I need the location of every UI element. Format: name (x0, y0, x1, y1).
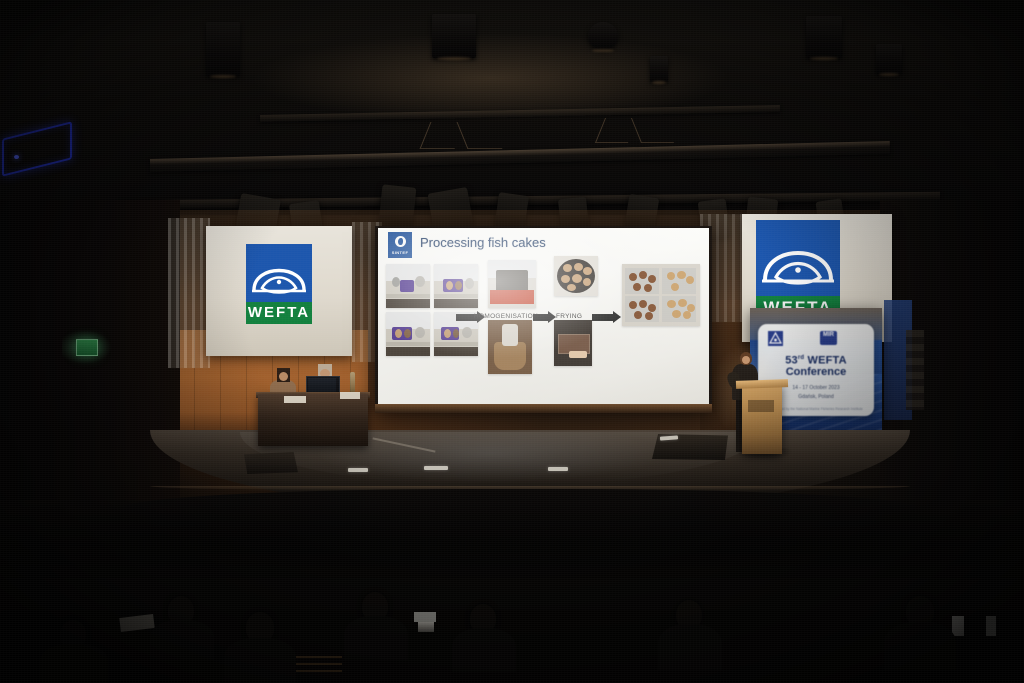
slide-photo-mixing-bowl (488, 320, 532, 374)
audience-head (60, 620, 86, 648)
lectern-top (736, 379, 788, 389)
projection-screen-frame (375, 226, 712, 410)
chair-person-right-face (320, 369, 330, 378)
audience-shoulders (40, 644, 108, 683)
process-arrow-icon (533, 314, 549, 321)
presenting-speaker-face (742, 356, 750, 364)
audience-shoulders (658, 624, 722, 670)
audience-bright-screen (952, 616, 964, 636)
screen-frame-bottom (375, 404, 712, 413)
aisle-steps (286, 656, 342, 676)
stage-spotlight (815, 198, 846, 239)
wefta-banner-left: WEFTA (206, 226, 352, 356)
audience-shoulders (224, 638, 296, 683)
audience-laptop-screen (414, 612, 436, 622)
stage-spotlight (231, 193, 281, 259)
stage-spotlight (558, 197, 590, 240)
poster-title: 53rd WEFTA (758, 352, 874, 368)
audience-head (470, 604, 496, 632)
wefta-banner-wordmark: WEFTA (756, 296, 840, 320)
audience-bright-screen (986, 616, 996, 636)
photo-vignette (0, 0, 1024, 683)
audience-head (676, 600, 702, 628)
poster-location: Gdańsk, Poland (758, 393, 874, 401)
exit-sign-icon (76, 339, 98, 356)
truss-brace-icon (420, 122, 466, 149)
audience-head (168, 596, 194, 624)
projection-screen: SINTEF Processing fish cakes (378, 228, 709, 406)
stage-edge-highlight (150, 486, 910, 491)
side-wall-right (880, 200, 1024, 500)
chair-person-right-body (310, 377, 340, 399)
process-label-homogenisation: HOMOGENISATION (474, 313, 538, 320)
audience-area (0, 540, 1024, 683)
stage-monitor-wedge-right (652, 434, 728, 460)
audience-shoulders (884, 622, 956, 670)
speaker-key-light (706, 336, 802, 466)
audience-row-front (0, 610, 1024, 683)
truss-brace-icon (631, 118, 674, 143)
chairpersons-table-top (256, 392, 370, 398)
audience-wall-glow (300, 588, 410, 646)
stage-surface-sheen (240, 432, 760, 486)
truss-brace-icon (595, 118, 638, 143)
lighting-truss-upper (260, 105, 780, 122)
wefta-logo-icon (756, 220, 840, 296)
wefta-fish-arch-logo (246, 244, 312, 302)
poster-wave-graphic (750, 374, 882, 430)
mir-logo-icon: MIR (820, 331, 837, 345)
ceiling-lamp (588, 22, 618, 50)
poster-photo-strip (750, 308, 882, 340)
stage-monitor-wedge-left (244, 452, 298, 474)
presenting-speaker-head (740, 352, 752, 365)
stage-curtain (168, 218, 210, 368)
slide-photo-oven (554, 320, 592, 366)
hall-ambient-light (0, 0, 1024, 683)
stage-spotlight (289, 200, 325, 250)
presentation-laptop (306, 376, 340, 400)
stage-spotlight (623, 194, 660, 242)
ceiling-light-wash (170, 18, 810, 138)
wefta-fish-arch-logo (756, 220, 840, 296)
photo-grain (0, 0, 1024, 683)
paper-sheet (284, 396, 306, 403)
wall-shadow (168, 412, 368, 454)
indicator-light (14, 155, 19, 159)
stage-curtain (700, 214, 744, 322)
ceiling-lamp (206, 22, 240, 76)
audience-paper (119, 614, 154, 632)
indicator-light (33, 378, 37, 382)
process-arrow-icon (592, 314, 614, 321)
lighting-truss-rear (120, 192, 940, 210)
stage-deck (150, 430, 910, 510)
blue-neon-fixture (2, 121, 72, 176)
exit-sign-glow (62, 330, 112, 364)
audience-laptop (418, 622, 434, 632)
lectern-panel (748, 400, 774, 412)
conference-backdrop-strip (884, 300, 912, 420)
sintef-mark (395, 236, 406, 247)
slide-photo-finished-fish-balls (622, 264, 700, 326)
presenting-speaker-body (732, 364, 758, 400)
audience-shoulders (150, 620, 214, 660)
ceiling-lamp (650, 56, 668, 82)
truss-brace-icon (457, 122, 503, 149)
audience-head (246, 612, 274, 642)
stage-spotlight (378, 184, 417, 235)
wefta-banner-right: WEFTA (742, 214, 892, 342)
poster-dim-overlay (750, 308, 882, 430)
sintef-wordmark: SINTEF (389, 250, 411, 256)
stage-cable (372, 437, 435, 452)
audience-head (906, 596, 934, 626)
stage-tape-mark (548, 467, 568, 471)
poster-subtitle: Conference (758, 366, 874, 379)
ceiling-lamp (432, 14, 476, 58)
slide-photo-homogeniser (488, 260, 536, 308)
chair-person-left-face (279, 372, 288, 381)
ceiling-lamp (876, 44, 902, 74)
stage-spotlight (427, 187, 476, 249)
poster-date: 14 - 17 October 2023 (758, 384, 874, 392)
stage-tape-mark (348, 468, 368, 472)
paper-sheet (340, 392, 360, 399)
slide-title: Processing fish cakes (420, 234, 650, 252)
wefta-logo-icon (246, 244, 312, 302)
stage-tape-mark (424, 466, 448, 470)
process-label-frying: FRYING (556, 313, 582, 320)
slide-photo-raw-material (386, 312, 430, 356)
wall-equipment-panel (906, 330, 924, 410)
wood-panel-wall-right (700, 300, 820, 450)
speaker-legs (736, 398, 752, 452)
lectern-shadow (736, 448, 792, 460)
chair-person-left-head (277, 368, 290, 382)
stage-spotlight (698, 198, 731, 241)
audience-shoulders (452, 628, 516, 672)
wooden-lectern (742, 384, 782, 454)
stage-curtain (352, 222, 382, 362)
screen-glare (378, 228, 709, 406)
conference-poster: MIR 53rd WEFTA Conference 14 - 17 Octobe… (750, 308, 882, 430)
stage-tape-mark (660, 435, 678, 440)
poster-text-card: MIR 53rd WEFTA Conference 14 - 17 Octobe… (758, 324, 874, 416)
audience-shoulders (344, 616, 408, 660)
chair-person-right-head (318, 364, 332, 379)
poster-footer: Organised by the National Marine Fisheri… (758, 407, 874, 412)
ceiling-lamp (806, 16, 842, 58)
lighting-truss-main (150, 141, 890, 172)
nmfri-logo-icon (768, 331, 783, 346)
slide-photo-raw-material (434, 264, 478, 308)
audience-head (362, 592, 388, 620)
wefta-banner-wordmark: WEFTA (246, 302, 312, 324)
aisle-floor-glow (260, 606, 460, 628)
water-bottle (350, 372, 355, 392)
stage-apron (120, 489, 920, 599)
process-arrow-icon (456, 314, 478, 321)
chairpersons-table (258, 394, 368, 446)
stage-curtain (818, 214, 870, 334)
laptop-screen (308, 378, 336, 395)
orchestra-pit-shadow (0, 500, 1024, 570)
sintef-logo-icon: SINTEF (388, 232, 412, 258)
slide-photo-raw-material (434, 312, 478, 356)
chair-person-left-body (270, 380, 296, 400)
stage-spotlight (744, 197, 778, 244)
back-wall (150, 210, 910, 450)
ceiling (0, 0, 1024, 215)
stage-spotlight (493, 192, 529, 240)
side-wall-left (0, 200, 180, 500)
speaker-arm (726, 371, 742, 390)
slide-photo-frying-pan (554, 256, 598, 296)
conference-hall-photo: WEFTA WEFTA SINTEF Processing fish cakes (0, 0, 1024, 683)
audience-row-back (0, 578, 1024, 618)
wood-panel-wall (168, 330, 368, 454)
slide-photo-raw-material (386, 264, 430, 308)
